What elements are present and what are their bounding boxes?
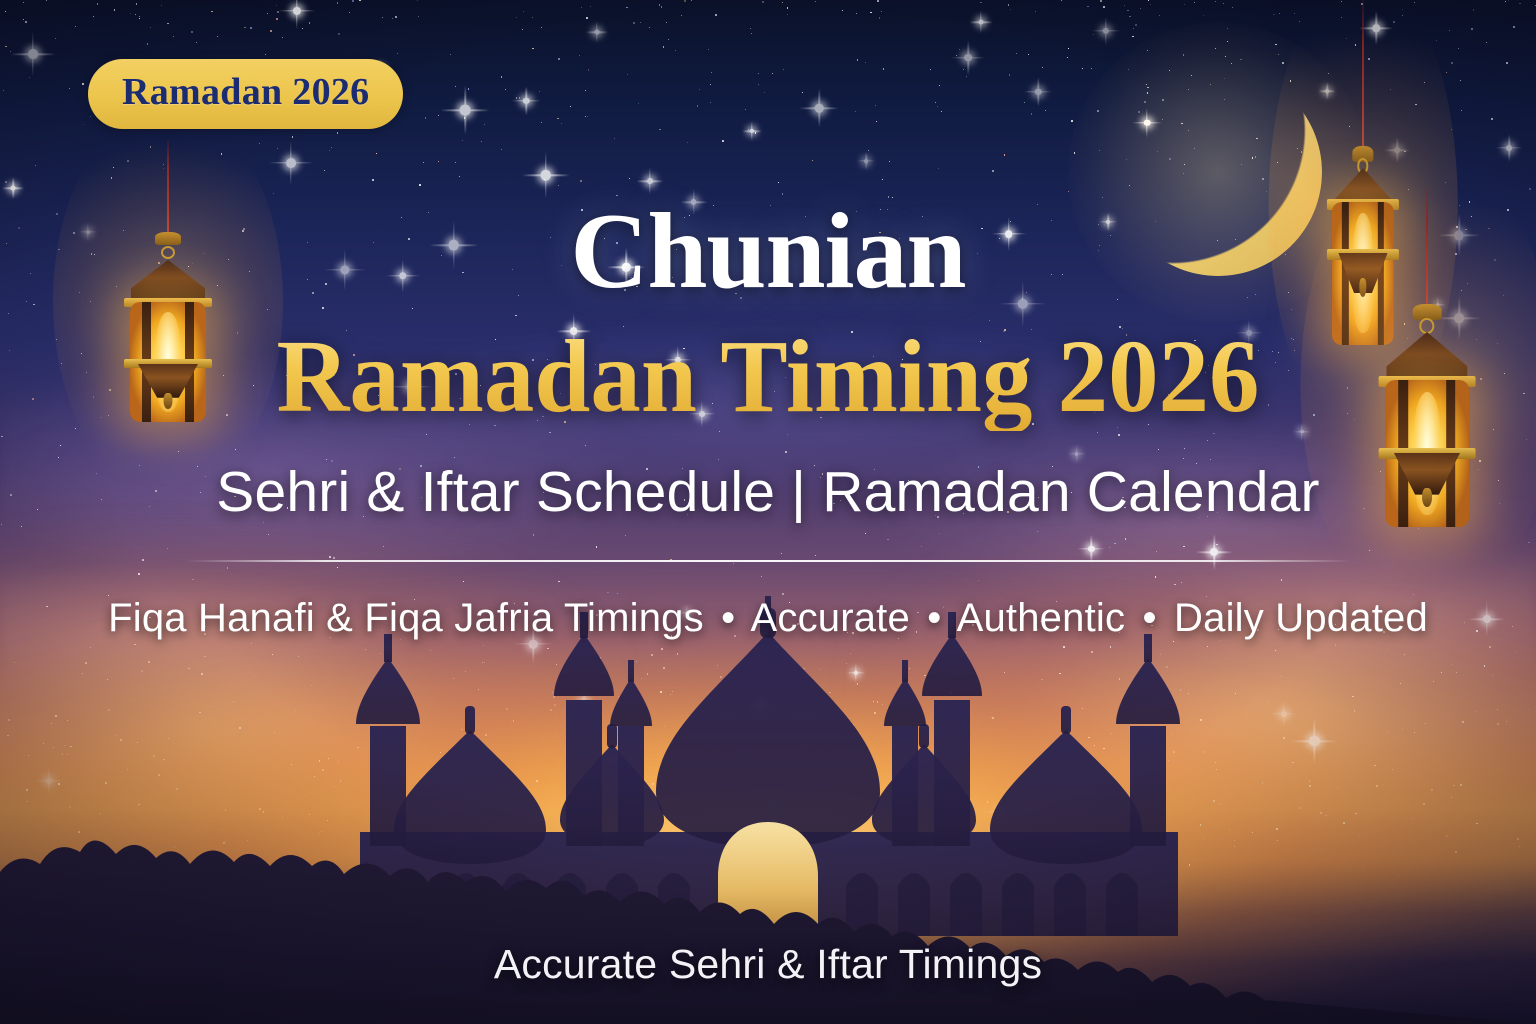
feature-main-text: Fiqa Hanafi & Fiqa Jafria Timings (108, 596, 704, 640)
hero-content: Chunian Ramadan Timing 2026 Sehri & Ifta… (0, 198, 1536, 641)
city-title: Chunian (0, 198, 1536, 306)
bullet-separator-2: • (921, 596, 947, 640)
bullet-separator-3: • (1137, 596, 1163, 640)
bullet-separator-1: • (715, 596, 741, 640)
ramadan-timing-banner: Ramadan 2026 Chunian Ramadan Timing 2026… (0, 0, 1536, 1024)
feature-item-authentic: Authentic (957, 596, 1126, 640)
feature-list: Fiqa Hanafi & Fiqa Jafria Timings • Accu… (0, 596, 1536, 641)
feature-item-accurate: Accurate (750, 596, 909, 640)
page-subtitle: Sehri & Iftar Schedule | Ramadan Calenda… (0, 461, 1536, 524)
ramadan-year-badge[interactable]: Ramadan 2026 (88, 59, 403, 129)
feature-item-daily-updated: Daily Updated (1174, 596, 1428, 640)
page-title: Ramadan Timing 2026 (23, 322, 1513, 431)
treeline-silhouette (0, 794, 1536, 1024)
divider-line (186, 560, 1351, 562)
footer-caption: Accurate Sehri & Iftar Timings (0, 941, 1536, 988)
